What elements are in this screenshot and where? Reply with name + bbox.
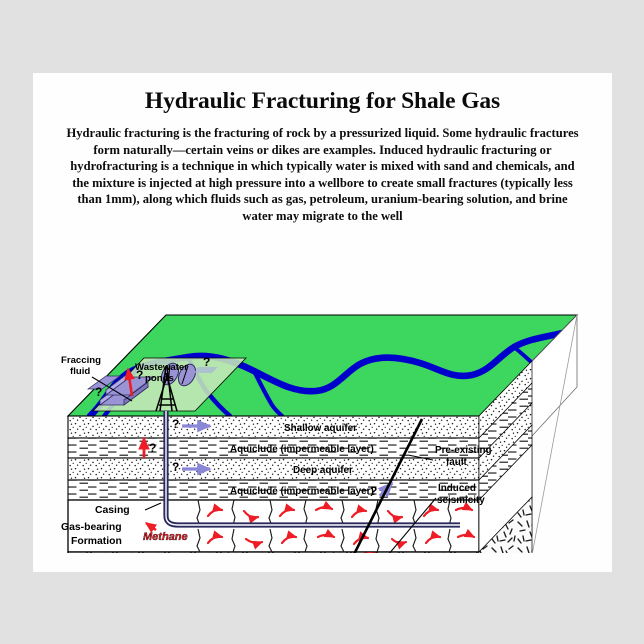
- river-tributary-b: [254, 371, 282, 416]
- strata-stack: [68, 416, 479, 552]
- casing-label: Casing: [95, 505, 130, 516]
- label-aquiclude-lower: Aquiclude (impermeable layer): [230, 486, 374, 497]
- question-mark-pad-right: ?: [203, 355, 210, 369]
- methane-arrow: [146, 523, 156, 530]
- fault-leader: [408, 455, 433, 460]
- surface-callouts: Fraccing fluid Wastewater ponds: [61, 355, 188, 401]
- question-mark-deep-aquifer: ?: [172, 460, 179, 474]
- layer-deep-aquifer: [68, 458, 479, 480]
- poster-body-text: Hydraulic fracturing is the fracturing o…: [64, 125, 581, 225]
- label-deep-aquifer: Deep aquifer: [293, 465, 353, 476]
- poster-canvas: Hydraulic Fracturing for Shale Gas Hydra…: [33, 73, 612, 572]
- fraccing-fluid-label-line2: fluid: [70, 366, 90, 377]
- question-mark-shallow-aquifer: ?: [172, 417, 179, 431]
- question-mark-aquiclude-upper: ?: [149, 441, 156, 455]
- layer-basement-rock: [68, 552, 479, 553]
- fraccing-fluid-label-line1: Fraccing: [61, 355, 101, 366]
- methane-migration-arrows: [208, 507, 474, 544]
- question-mark-pad-left: ?: [95, 385, 102, 399]
- surface-spill-arrow: [128, 369, 132, 396]
- question-mark-pad-arrow: ?: [136, 368, 143, 382]
- question-mark-fault: ?: [370, 484, 377, 498]
- block-outline: [479, 315, 577, 553]
- strata-right-face: [479, 361, 532, 552]
- casing-leader: [145, 503, 161, 510]
- basement-rock-right-face: [479, 497, 532, 553]
- induced-seismicity-label-line1: Induced: [438, 483, 476, 494]
- pre-existing-fault-label-line2: fault: [446, 457, 468, 468]
- gas-bearing-label-line2: Formation: [71, 536, 122, 547]
- label-shallow-aquifer: Shallow aquifer: [284, 423, 357, 434]
- gas-bearing-label-line1: Gas-bearing: [61, 522, 122, 533]
- block-right-face: [479, 315, 577, 535]
- induced-seismicity-label-line2: seismicity: [437, 495, 485, 506]
- methane-label: Methane: [143, 531, 188, 543]
- page-title: Hydraulic Fracturing for Shale Gas: [33, 88, 612, 115]
- strata-labels: Shallow aquifer Aquiclude (impermeable l…: [230, 423, 374, 497]
- hydraulic-fracturing-diagram: Fraccing fluid Wastewater ponds ? ? ?: [48, 233, 597, 553]
- river-tributary-d: [514, 347, 544, 373]
- pre-existing-fault-label-line1: Pre-existing: [435, 445, 492, 456]
- aquifer-migration: [182, 426, 210, 469]
- right-callouts: Pre-existing fault Induced seismicity: [388, 445, 492, 553]
- label-aquiclude-upper: Aquiclude (impermeable layer): [230, 444, 374, 455]
- seismicity-leader: [388, 498, 436, 553]
